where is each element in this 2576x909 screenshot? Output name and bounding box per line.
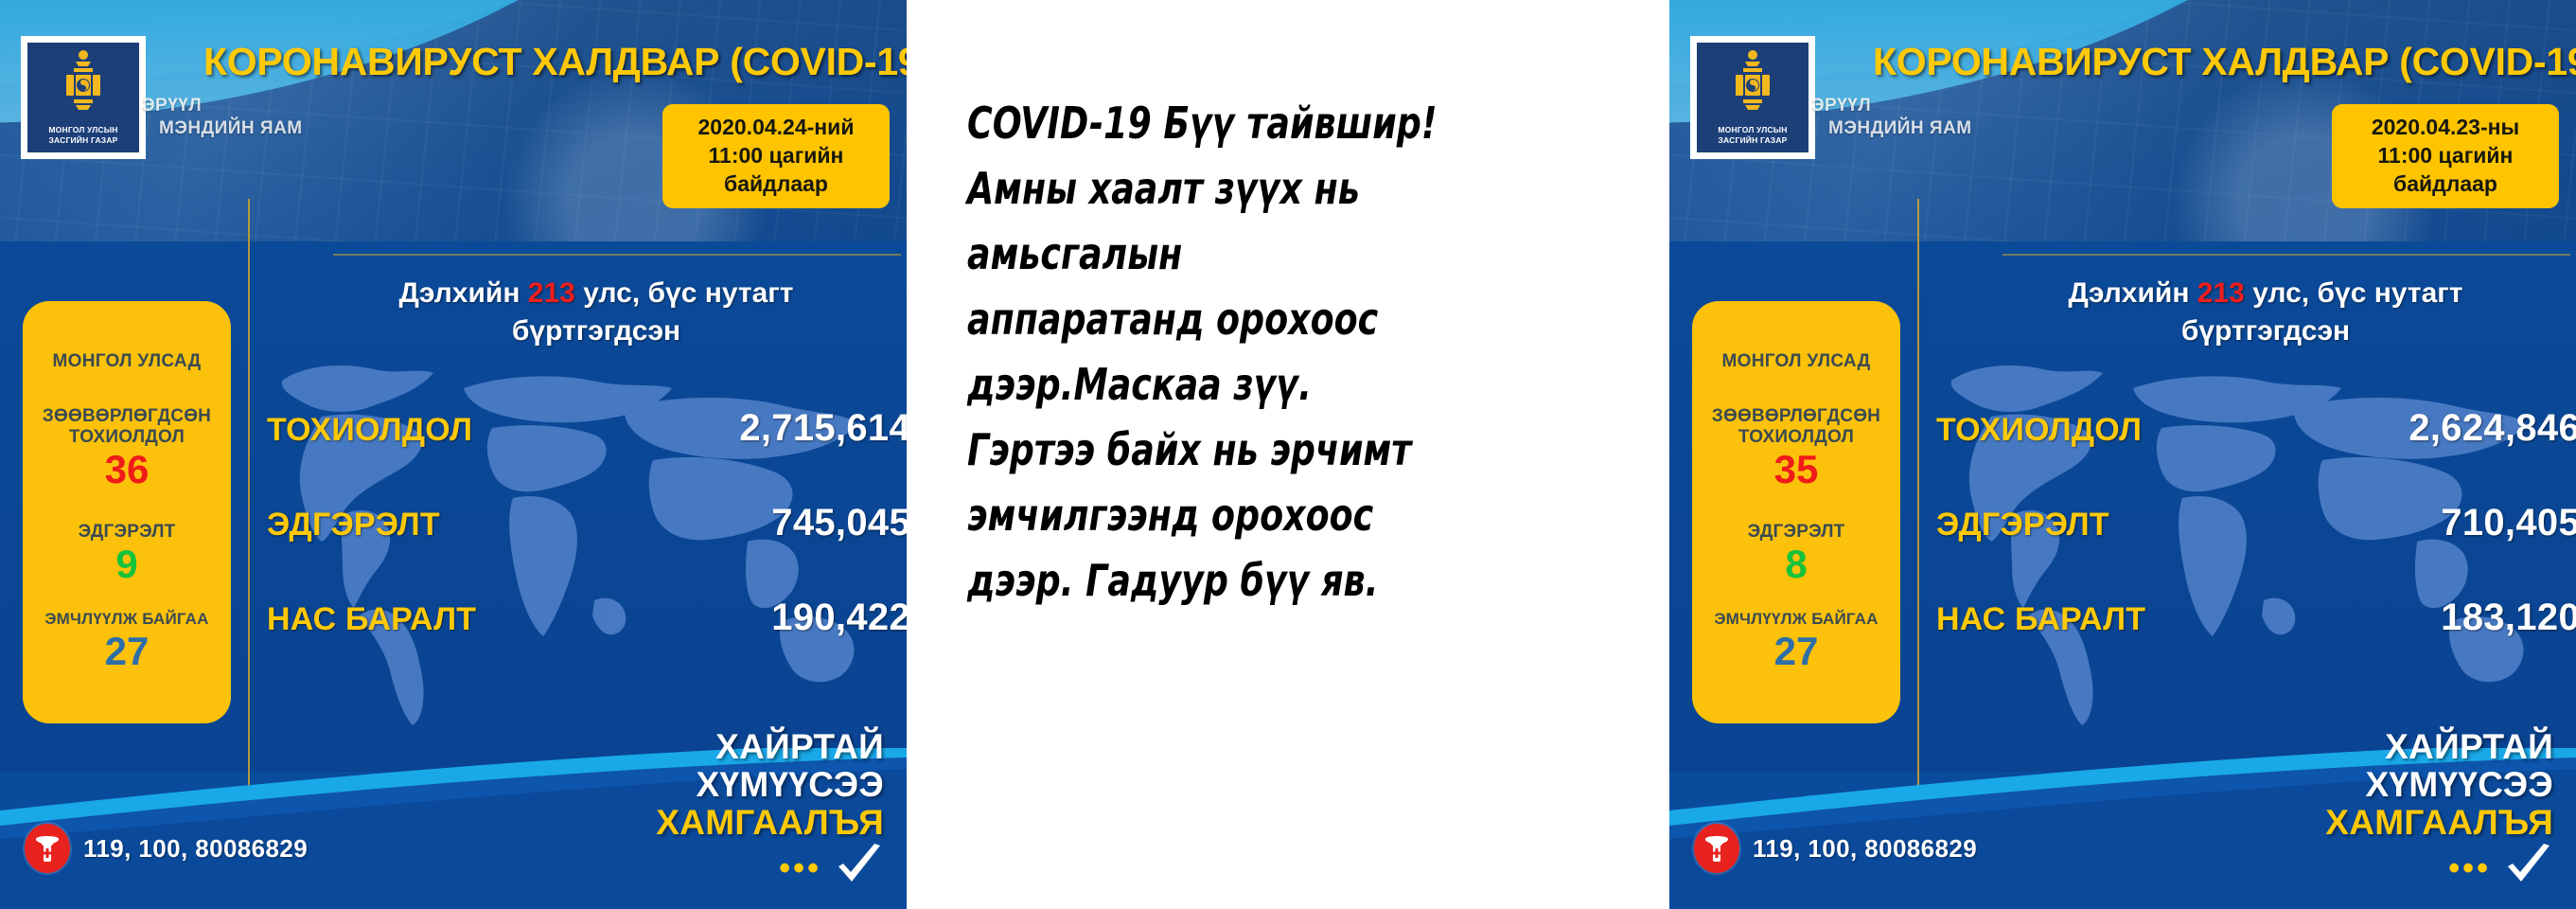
world-row-cases: ТОХИОЛДОЛ 2,624,846 xyxy=(1936,407,2576,450)
world-row-recovered: ЭДГЭРЭЛТ 745,045 xyxy=(267,502,907,544)
country-card-heading: МОНГОЛ УЛСАД xyxy=(1721,350,1870,372)
slogan-dots: ••• xyxy=(2448,859,2491,878)
world-row-2-label: НАС БАРАЛТ xyxy=(1936,601,2145,638)
world-head-line2: бүртгэгдсэн xyxy=(284,312,907,350)
world-head-line2: бүртгэгдсэн xyxy=(1953,312,2576,350)
vertical-divider xyxy=(1917,199,1919,833)
poster-right: МОНГОЛ УЛСЫН ЗАСГИЙН ГАЗАР ЭРҮҮЛ МЭНДИЙН… xyxy=(1669,0,2576,909)
country-row-0-label1: ЗӨӨВӨРЛӨГДСӨН xyxy=(1712,406,1880,427)
slogan-line1: ХАЙРТАЙ xyxy=(562,728,884,766)
world-row-2-label: НАС БАРАЛТ xyxy=(267,601,476,638)
date-badge-line2: 11:00 цагийн xyxy=(2338,141,2553,169)
soyombo-icon xyxy=(57,48,110,118)
soyombo-icon xyxy=(1726,48,1779,118)
world-row-2-value: 183,120 xyxy=(2441,597,2576,639)
country-stats-card: МОНГОЛ УЛСАД ЗӨӨВӨРЛӨГДСӨН ТОХИОЛДОЛ 36 … xyxy=(23,301,231,723)
slogan-line2: ХҮМҮҮСЭЭ xyxy=(2232,766,2553,804)
country-row-1-value: 9 xyxy=(115,543,137,586)
world-head-post: улс, бүс нутагт xyxy=(2245,277,2463,309)
center-message: COVID-19 Бүү тайвшир! Амны хаалт зүүх нь… xyxy=(967,91,1567,614)
world-row-1-label: ЭДГЭРЭЛТ xyxy=(1936,507,2109,544)
center-line-6: эмчилгээнд орохоос xyxy=(967,483,1567,548)
world-country-count: 213 xyxy=(2197,277,2245,309)
center-line-5: Гэртээ байх нь эрчимт xyxy=(967,418,1567,483)
center-line-1: Амны хаалт зүүх нь xyxy=(967,156,1567,222)
logo-text-line2: ЗАСГИЙН ГАЗАР xyxy=(48,135,117,146)
logo-text-line1: МОНГОЛ УЛСЫН xyxy=(1718,125,1787,135)
logo-inner: МОНГОЛ УЛСЫН ЗАСГИЙН ГАЗАР xyxy=(27,43,139,152)
date-badge-line3: байдлаар xyxy=(2338,169,2553,198)
country-stats-card: МОНГОЛ УЛСАД ЗӨӨВӨРЛӨГДСӨН ТОХИОЛДОЛ 35 … xyxy=(1692,301,1900,723)
date-badge: 2020.04.23-ны 11:00 цагийн байдлаар xyxy=(2332,104,2559,208)
emergency-phone-icon xyxy=(1694,824,1739,873)
world-row-0-value: 2,715,614 xyxy=(739,407,907,450)
ministry-line1: ЭРҮҮЛ xyxy=(1811,95,2001,117)
center-line-7: дээр. Гадуур бүү яв. xyxy=(967,548,1567,614)
date-badge-line1: 2020.04.24-ний xyxy=(668,113,884,141)
hotline: 119, 100, 80086829 xyxy=(1694,824,1977,873)
country-row-1-label1: ЭДГЭРЭЛТ xyxy=(79,522,176,543)
country-row-2-label1: ЭМЧЛҮҮЛЖ БАЙГАА xyxy=(44,609,208,630)
page-title: КОРОНАВИРУСТ ХАЛДВАР (COVID-19) xyxy=(203,40,894,84)
country-row-0-label2: ТОХИОЛДОЛ xyxy=(1738,427,1854,448)
horizontal-divider xyxy=(2003,254,2570,256)
date-badge-line1: 2020.04.23-ны xyxy=(2338,113,2553,141)
slogan-footer: ••• xyxy=(2232,844,2553,892)
world-stats-heading: Дэлхийн 213 улс, бүс нутагт бүртгэгдсэн xyxy=(284,275,907,350)
slogan-line2: ХҮМҮҮСЭЭ xyxy=(562,766,884,804)
horizontal-divider xyxy=(333,254,901,256)
page-title: КОРОНАВИРУСТ ХАЛДВАР (COVID-19) xyxy=(1873,40,2564,84)
world-row-1-label: ЭДГЭРЭЛТ xyxy=(267,507,440,544)
campaign-slogan: ХАЙРТАЙ ХҮМҮҮСЭЭ ХАМГААЛЪЯ ••• xyxy=(2232,728,2553,892)
ministry-name: ЭРҮҮЛ МЭНДИЙН ЯАМ xyxy=(1811,95,2001,140)
logo-text-line1: МОНГОЛ УЛСЫН xyxy=(48,125,117,135)
country-row-0-value: 35 xyxy=(1774,448,1819,491)
country-row-2-value: 27 xyxy=(1774,630,1819,673)
ministry-line2: МЭНДИЙН ЯАМ xyxy=(1811,117,2001,140)
center-line-0: COVID-19 Бүү тайвшир! xyxy=(967,91,1567,156)
country-row-0-label2: ТОХИОЛДОЛ xyxy=(69,427,185,448)
vertical-divider xyxy=(248,199,250,833)
world-row-cases: ТОХИОЛДОЛ 2,715,614 xyxy=(267,407,907,450)
world-row-0-value: 2,624,846 xyxy=(2408,407,2576,450)
world-row-deaths: НАС БАРАЛТ 190,422 xyxy=(267,597,907,639)
campaign-slogan: ХАЙРТАЙ ХҮМҮҮСЭЭ ХАМГААЛЪЯ ••• xyxy=(562,728,884,892)
world-row-deaths: НАС БАРАЛТ 183,120 xyxy=(1936,597,2576,639)
country-row-2-label1: ЭМЧЛҮҮЛЖ БАЙГАА xyxy=(1714,609,1878,630)
center-line-3: аппаратанд орохоос xyxy=(967,287,1567,352)
world-row-1-value: 745,045 xyxy=(771,502,907,544)
world-stats-heading: Дэлхийн 213 улс, бүс нутагт бүртгэгдсэн xyxy=(1953,275,2576,350)
ministry-line1: ЭРҮҮЛ xyxy=(142,95,331,117)
world-row-0-label: ТОХИОЛДОЛ xyxy=(1936,412,2142,449)
center-line-2: амьсгалын xyxy=(967,222,1567,287)
date-badge-line2: 11:00 цагийн xyxy=(668,141,884,169)
world-head-post: улс, бүс нутагт xyxy=(575,277,794,309)
checkmark-icon xyxy=(835,844,884,892)
slogan-line3: ХАМГААЛЪЯ xyxy=(2232,804,2553,842)
logo-inner: МОНГОЛ УЛСЫН ЗАСГИЙН ГАЗАР xyxy=(1697,43,1808,152)
emergency-phone-icon xyxy=(25,824,70,873)
slogan-footer: ••• xyxy=(562,844,884,892)
slogan-line1: ХАЙРТАЙ xyxy=(2232,728,2553,766)
logo-text-line2: ЗАСГИЙН ГАЗАР xyxy=(1718,135,1787,146)
world-head-pre: Дэлхийн xyxy=(2069,277,2197,309)
government-logo: МОНГОЛ УЛСЫН ЗАСГИЙН ГАЗАР xyxy=(1690,36,1815,159)
government-logo: МОНГОЛ УЛСЫН ЗАСГИЙН ГАЗАР xyxy=(21,36,146,159)
country-row-1-label1: ЭДГЭРЭЛТ xyxy=(1748,522,1845,543)
hotline-numbers: 119, 100, 80086829 xyxy=(1753,834,1977,864)
center-line-4: дээр.Маскаа зүү. xyxy=(967,352,1567,418)
hotline: 119, 100, 80086829 xyxy=(25,824,308,873)
ministry-name: ЭРҮҮЛ МЭНДИЙН ЯАМ xyxy=(142,95,331,140)
world-row-0-label: ТОХИОЛДОЛ xyxy=(267,412,472,449)
country-row-1-value: 8 xyxy=(1785,543,1807,586)
world-row-recovered: ЭДГЭРЭЛТ 710,405 xyxy=(1936,502,2576,544)
world-head-pre: Дэлхийн xyxy=(399,277,528,309)
slogan-line3: ХАМГААЛЪЯ xyxy=(562,804,884,842)
slogan-dots: ••• xyxy=(779,859,821,878)
poster-left: МОНГОЛ УЛСЫН ЗАСГИЙН ГАЗАР ЭРҮҮЛ МЭНДИЙН… xyxy=(0,0,907,909)
country-row-0-value: 36 xyxy=(105,448,150,491)
country-row-2-value: 27 xyxy=(105,630,150,673)
country-card-heading: МОНГОЛ УЛСАД xyxy=(52,350,201,372)
world-country-count: 213 xyxy=(528,277,575,309)
country-row-0-label1: ЗӨӨВӨРЛӨГДСӨН xyxy=(43,406,211,427)
date-badge: 2020.04.24-ний 11:00 цагийн байдлаар xyxy=(662,104,890,208)
checkmark-icon xyxy=(2504,844,2553,892)
ministry-line2: МЭНДИЙН ЯАМ xyxy=(142,117,331,140)
world-row-1-value: 710,405 xyxy=(2441,502,2576,544)
date-badge-line3: байдлаар xyxy=(668,169,884,198)
hotline-numbers: 119, 100, 80086829 xyxy=(83,834,308,864)
world-row-2-value: 190,422 xyxy=(771,597,907,639)
poster-comparison-stage: МОНГОЛ УЛСЫН ЗАСГИЙН ГАЗАР ЭРҮҮЛ МЭНДИЙН… xyxy=(0,0,2576,909)
